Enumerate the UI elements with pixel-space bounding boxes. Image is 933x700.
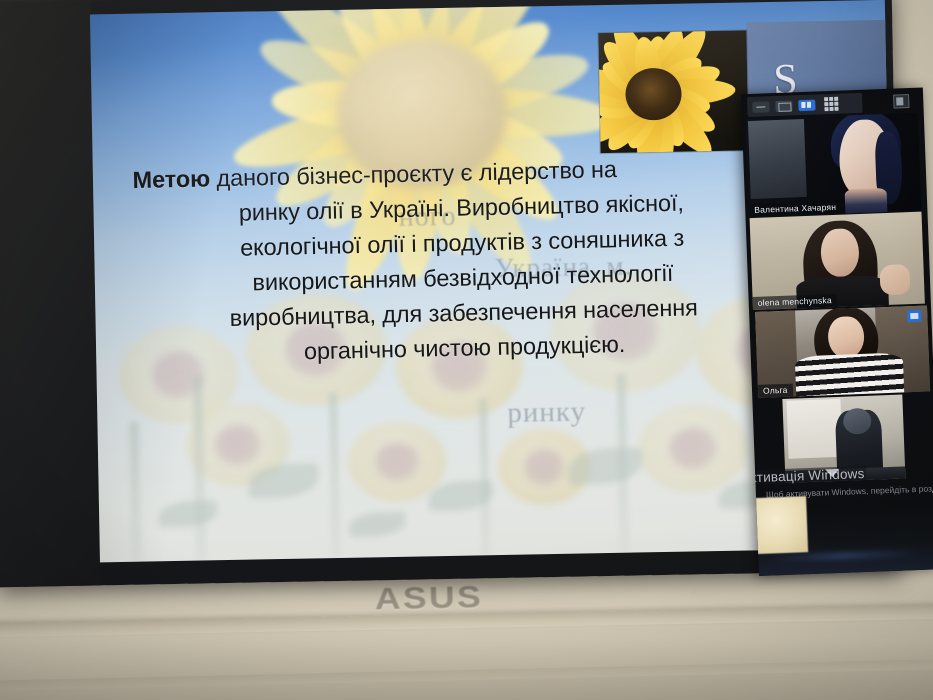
- laptop-foot: [690, 590, 720, 597]
- participant-tile[interactable]: [782, 394, 905, 482]
- participant-tile[interactable]: Валентина Хачарян: [746, 113, 922, 217]
- sunflower-core: [524, 449, 565, 486]
- slide-body-text: Метою даного бізнес-проєкту є лідерство …: [110, 148, 815, 374]
- sunflower-stem: [129, 422, 141, 562]
- slide-corner-visible: [754, 496, 808, 554]
- sunflower-stem: [617, 374, 629, 553]
- sunflower-stem: [193, 375, 206, 560]
- sunflower-bloom: [637, 403, 749, 493]
- tile-background-window: [786, 399, 842, 459]
- sunflower-petal: [256, 0, 437, 127]
- slide-watermark-word: ринку: [507, 395, 586, 429]
- asus-logo: ASUS: [374, 579, 501, 612]
- participant-name-label: Ольга: [758, 384, 793, 398]
- sunflower-bloom: [498, 428, 591, 506]
- bezel-left-panel: [0, 0, 101, 587]
- sunflower-bloom: [347, 421, 446, 503]
- grid-view-icon[interactable]: [824, 97, 839, 112]
- sunflower-petal: [398, 0, 454, 110]
- avatar-neck: [845, 188, 888, 216]
- sunflower-petal: [354, 0, 445, 115]
- sunflower-petal: [416, 41, 595, 132]
- gallery-view-icon[interactable]: [798, 99, 815, 111]
- sunflower-stem: [479, 398, 490, 555]
- minimize-icon[interactable]: [752, 101, 769, 113]
- sunflower-petal: [399, 0, 505, 117]
- sunflower-leaf: [568, 447, 643, 484]
- sunflower-leaf: [349, 512, 405, 537]
- sunflower-petal: [420, 84, 616, 142]
- participant-tile[interactable]: Ольга: [755, 305, 930, 397]
- zoom-view-toolbar[interactable]: [747, 93, 863, 117]
- zoom-meeting-window[interactable]: Валентина Хачарян olena menchynska Ольга: [741, 87, 933, 575]
- sunflower-leaf: [248, 463, 319, 498]
- sunflower-inset-photo: [598, 30, 748, 153]
- sunflower-petal: [409, 6, 561, 128]
- avatar-hand: [879, 264, 910, 295]
- sunflower-leaf: [159, 500, 217, 527]
- sunflower-petal: [253, 24, 431, 130]
- participant-name-label: olena menchynska: [753, 294, 838, 310]
- monitor-bezel: ного Україна, м. ринку S C Метою даного …: [0, 0, 902, 587]
- participant-tile[interactable]: olena menchynska: [750, 212, 925, 310]
- sunflower-stem: [329, 393, 340, 558]
- video-status-badge-icon: [907, 310, 921, 323]
- speaker-view-icon[interactable]: [775, 100, 792, 112]
- sunflower-core: [375, 442, 419, 481]
- photograph-of-laptop-screen: ASUS ного Україна, м. ринку S C: [0, 0, 933, 700]
- sunflower-core: [215, 424, 261, 465]
- tile-background-window: [748, 119, 807, 199]
- screen-share-icon[interactable]: [893, 94, 910, 109]
- avatar-striped-shirt: [795, 352, 904, 396]
- sunflower-petal: [320, 0, 442, 121]
- sunflower-petal: [403, 0, 562, 123]
- sunflower-leaf: [429, 480, 494, 511]
- sunflower-petal: [271, 77, 423, 133]
- tile-foreground-desk: [785, 466, 905, 482]
- sunflower-core: [668, 427, 717, 470]
- sunflower-bloom: [185, 402, 291, 488]
- laptop-lid-shading: [0, 640, 933, 700]
